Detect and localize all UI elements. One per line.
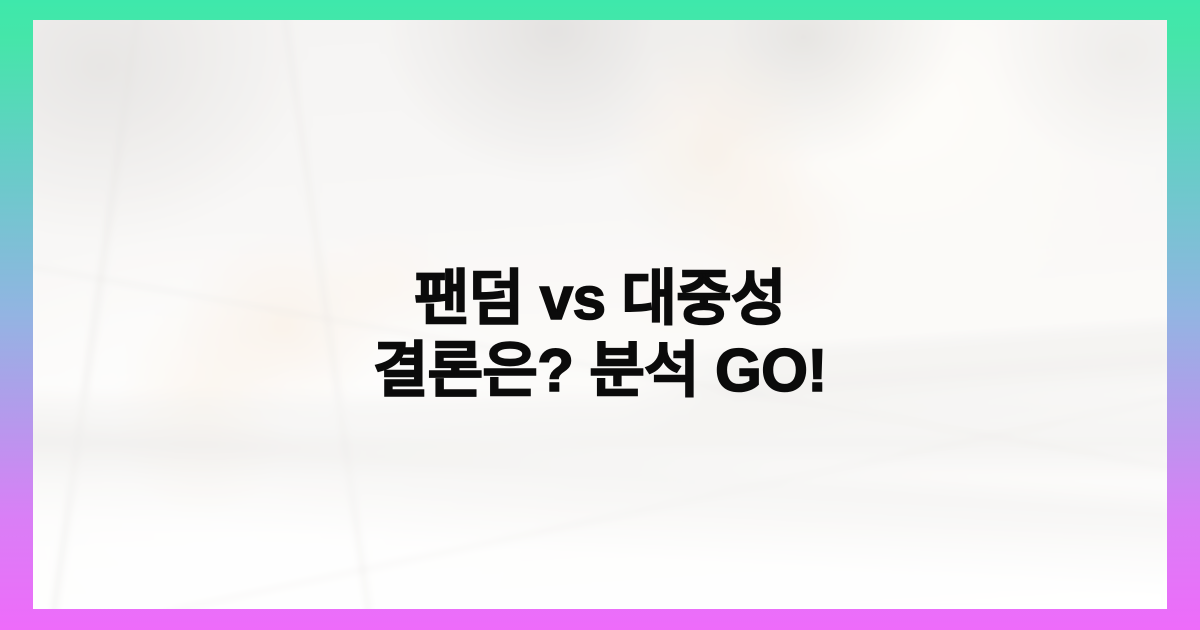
thumbnail-card: 팬덤 vs 대중성 결론은? 분석 GO! xyxy=(0,0,1200,630)
background-photo xyxy=(33,20,1167,609)
content-plate: 팬덤 vs 대중성 결론은? 분석 GO! xyxy=(33,20,1167,609)
photo-wash-overlay xyxy=(33,20,1167,609)
